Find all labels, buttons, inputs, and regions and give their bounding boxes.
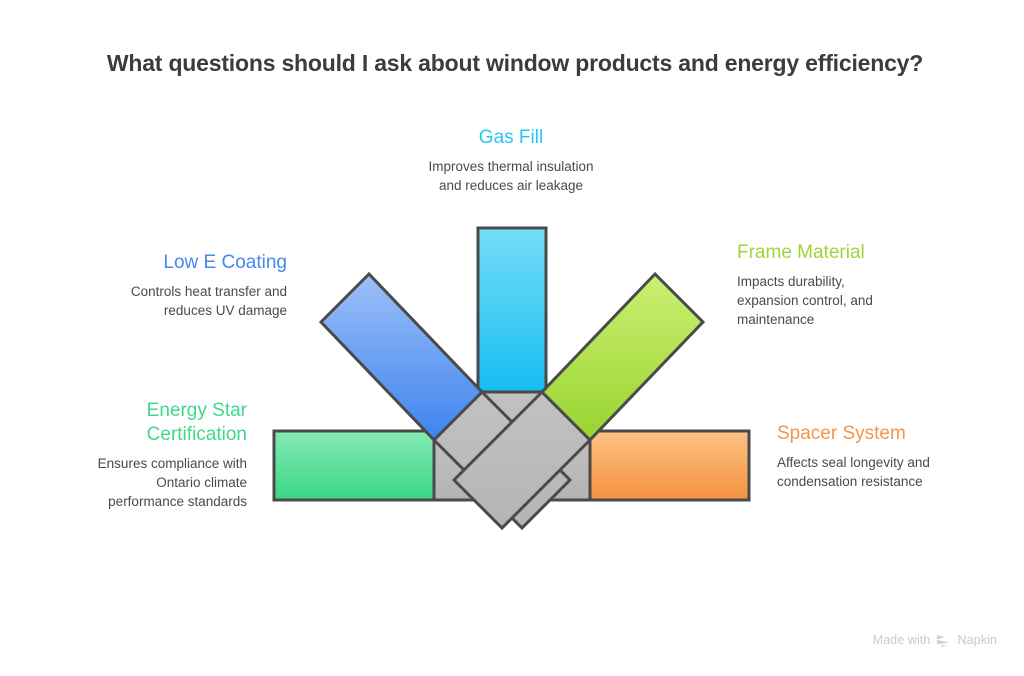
node-label-gas-fill: Gas Fill Improves thermal insulation and… [361, 126, 661, 195]
node-desc-frame-material: Impacts durability, expansion control, a… [737, 272, 967, 329]
watermark-prefix: Made with [873, 633, 931, 647]
node-desc-line: and reduces air leakage [361, 176, 661, 195]
watermark-brand: Napkin [957, 633, 997, 647]
node-title-gas-fill: Gas Fill [361, 126, 661, 150]
overlap-region-energy-star [434, 431, 724, 500]
overlap-region-low-e [434, 392, 570, 528]
node-title-line: Certification [21, 423, 247, 447]
node-desc-line: Affects seal longevity and [777, 453, 1002, 472]
node-title-line: Energy Star [21, 399, 247, 423]
node-desc-line: maintenance [737, 310, 967, 329]
page-title: What questions should I ask about window… [50, 50, 980, 77]
node-desc-line: expansion control, and [737, 291, 967, 310]
node-label-spacer-system: Spacer System Affects seal longevity and… [777, 422, 1002, 491]
node-desc-line: Controls heat transfer and [46, 282, 287, 301]
node-desc-energy-star: Ensures compliance with Ontario climate … [21, 454, 247, 511]
node-desc-spacer-system: Affects seal longevity and condensation … [777, 453, 1002, 491]
node-desc-line: Ensures compliance with [21, 454, 247, 473]
node-desc-line: Ontario climate [21, 473, 247, 492]
node-desc-line: reduces UV damage [46, 301, 287, 320]
node-desc-line: Impacts durability, [737, 272, 967, 291]
node-label-frame-material: Frame Material Impacts durability, expan… [737, 241, 967, 329]
node-label-energy-star: Energy Star Certification Ensures compli… [21, 399, 247, 511]
node-title-frame-material: Frame Material [737, 241, 967, 265]
bar-spacer-system[interactable] [590, 431, 749, 500]
node-title-spacer-system: Spacer System [777, 422, 1002, 446]
node-desc-line: condensation resistance [777, 472, 1002, 491]
node-title-energy-star: Energy Star Certification [21, 399, 247, 447]
napkin-chevron-logo-icon [936, 634, 951, 647]
overlap-region-spacer [522, 431, 592, 500]
bar-low-e-coating[interactable] [321, 274, 482, 440]
napkin-watermark: Made with Napkin [873, 633, 997, 647]
node-desc-line: Improves thermal insulation [361, 157, 661, 176]
overlap-region-frame-material [454, 392, 590, 528]
bar-gas-fill[interactable] [478, 228, 546, 392]
node-desc-line: performance standards [21, 492, 247, 511]
overlap-region-gas-fill [478, 392, 546, 472]
node-title-low-e-coating: Low E Coating [46, 251, 287, 275]
bar-frame-material[interactable] [542, 274, 703, 440]
radial-bars-diagram [0, 0, 1024, 676]
bar-energy-star[interactable] [274, 431, 434, 500]
node-label-low-e-coating: Low E Coating Controls heat transfer and… [46, 251, 287, 320]
node-desc-low-e-coating: Controls heat transfer and reduces UV da… [46, 282, 287, 320]
node-desc-gas-fill: Improves thermal insulation and reduces … [361, 157, 661, 195]
